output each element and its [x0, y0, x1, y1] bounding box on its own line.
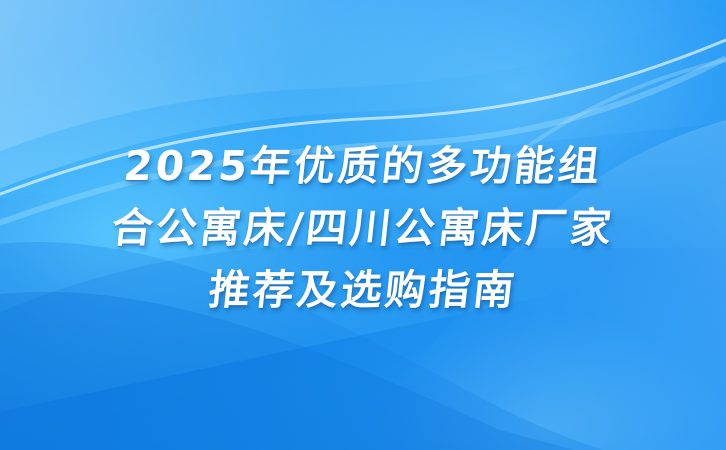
- banner-title-line-3: 推荐及选购指南: [206, 259, 521, 321]
- banner-title-line-1: 2025年优质的多功能组: [121, 135, 606, 197]
- banner-title-line-2: 合公寓床/四川公寓床厂家: [109, 197, 618, 259]
- banner-title-block: 2025年优质的多功能组 合公寓床/四川公寓床厂家 推荐及选购指南: [0, 0, 726, 450]
- banner-image: 2025年优质的多功能组 合公寓床/四川公寓床厂家 推荐及选购指南: [0, 0, 726, 450]
